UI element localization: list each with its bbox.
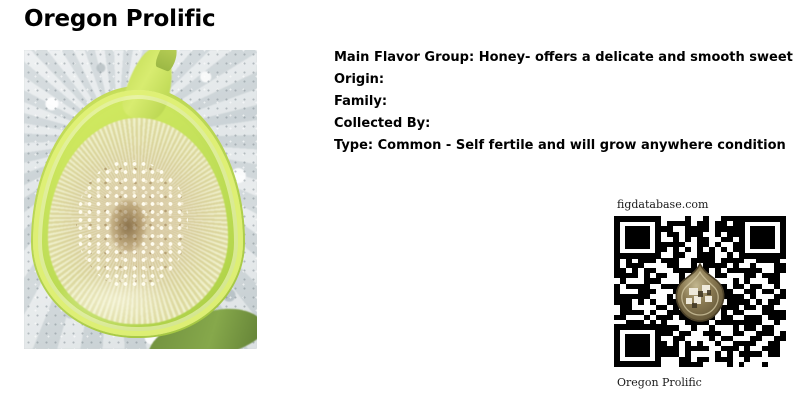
- fig-logo-badge-icon: [672, 262, 728, 322]
- detail-line-origin: Origin:: [334, 69, 800, 91]
- qr-finder-top-left: [614, 216, 661, 259]
- detail-line-type: Type: Common - Self fertile and will gro…: [334, 135, 800, 157]
- qr-finder-bottom-left: [614, 324, 661, 367]
- qr-finder-top-right: [739, 216, 786, 259]
- detail-line-collected-by: Collected By:: [334, 113, 800, 135]
- fig-photograph: [24, 50, 257, 349]
- qr-site-label: figdatabase.com: [617, 198, 786, 211]
- qr-block: figdatabase.com: [614, 198, 786, 389]
- detail-line-family: Family:: [334, 91, 800, 113]
- fig-detail-list: Main Flavor Group: Honey- offers a delic…: [334, 47, 800, 157]
- qr-code-image[interactable]: [614, 216, 786, 367]
- page-title: Oregon Prolific: [24, 6, 215, 32]
- detail-line-main-flavor-group: Main Flavor Group: Honey- offers a delic…: [334, 47, 800, 69]
- qr-caption: Oregon Prolific: [617, 376, 786, 389]
